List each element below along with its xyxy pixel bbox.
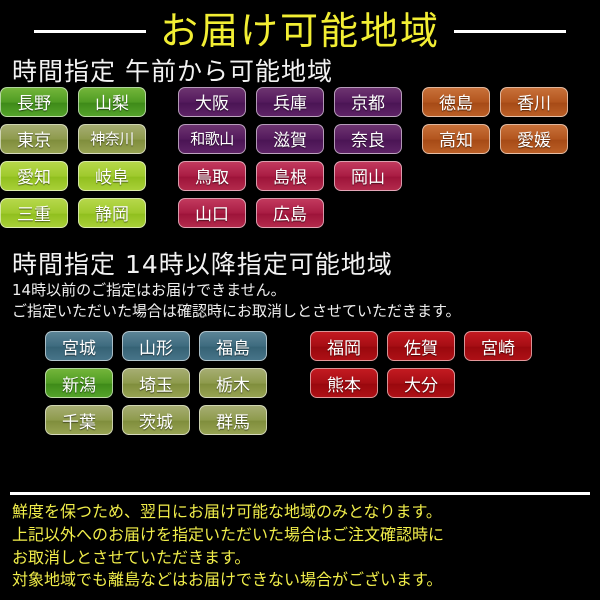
prefecture-tag-label: 埼玉	[139, 371, 173, 396]
prefecture-tag[interactable]: 三重	[0, 198, 68, 228]
prefecture-tag-label: 徳島	[439, 89, 473, 114]
prefecture-tag[interactable]: 神奈川	[78, 124, 146, 154]
prefecture-tag[interactable]: 長野	[0, 87, 68, 117]
prefecture-tag-row: 新潟埼玉栃木	[45, 368, 310, 398]
prefecture-tag[interactable]: 新潟	[45, 368, 113, 398]
footer-line: 上記以外へのお届けを指定いただいた場合はご注文確認時に	[12, 524, 600, 547]
prefecture-tag-label: 広島	[273, 200, 307, 225]
prefecture-tag[interactable]: 京都	[334, 87, 402, 117]
prefecture-tag-label: 熊本	[327, 371, 361, 396]
title-rule-right	[454, 30, 566, 33]
prefecture-tag-label: 群馬	[216, 408, 250, 433]
prefecture-tag[interactable]: 愛媛	[500, 124, 568, 154]
prefecture-tag[interactable]: 千葉	[45, 405, 113, 435]
afternoon-grid-east: 宮城山形福島新潟埼玉栃木千葉茨城群馬	[0, 331, 310, 442]
prefecture-tag-label: 神奈川	[90, 128, 134, 149]
prefecture-tag[interactable]: 大阪	[178, 87, 246, 117]
prefecture-tag-label: 滋賀	[273, 126, 307, 151]
prefecture-tag[interactable]: 埼玉	[122, 368, 190, 398]
prefecture-tag-label: 岐阜	[95, 163, 129, 188]
prefecture-tag[interactable]: 島根	[256, 161, 324, 191]
afternoon-note-1: 14時以前のご指定はお届けできません。	[0, 280, 600, 302]
prefecture-tag[interactable]: 山口	[178, 198, 246, 228]
section-morning: 時間指定 午前から可能地域 長野山梨大阪兵庫京都徳島香川東京神奈川和歌山滋賀奈良…	[0, 58, 600, 243]
prefecture-tag-label: 大阪	[195, 89, 229, 114]
prefecture-tag-label: 兵庫	[273, 89, 307, 114]
prefecture-tag-label: 佐賀	[404, 334, 438, 359]
title-row: お届け可能地域	[0, 0, 600, 58]
prefecture-tag[interactable]: 広島	[256, 198, 324, 228]
prefecture-tag-label: 千葉	[62, 408, 96, 433]
section-morning-heading: 時間指定 午前から可能地域	[0, 58, 600, 87]
prefecture-tag-row: 福岡佐賀宮崎	[310, 331, 555, 361]
prefecture-tag-label: 奈良	[351, 126, 385, 151]
prefecture-tag-label: 岡山	[351, 163, 385, 188]
prefecture-tag-label: 山形	[139, 334, 173, 359]
prefecture-tag-label: 茨城	[139, 408, 173, 433]
prefecture-tag-label: 高知	[439, 126, 473, 151]
prefecture-tag-row: 千葉茨城群馬	[45, 405, 310, 435]
prefecture-tag[interactable]: 徳島	[422, 87, 490, 117]
prefecture-tag[interactable]: 滋賀	[256, 124, 324, 154]
prefecture-tag[interactable]: 佐賀	[387, 331, 455, 361]
prefecture-tag[interactable]: 和歌山	[178, 124, 246, 154]
prefecture-tag[interactable]: 福岡	[310, 331, 378, 361]
prefecture-tag-label: 東京	[17, 126, 51, 151]
prefecture-tag[interactable]: 香川	[500, 87, 568, 117]
prefecture-tag-label: 栃木	[216, 371, 250, 396]
title-rule-left	[34, 30, 146, 33]
prefecture-tag-label: 大分	[404, 371, 438, 396]
prefecture-tag[interactable]: 熊本	[310, 368, 378, 398]
prefecture-tag-label: 長野	[17, 89, 51, 114]
delivery-area-panel: お届け可能地域 時間指定 午前から可能地域 長野山梨大阪兵庫京都徳島香川東京神奈…	[0, 0, 600, 600]
prefecture-tag-label: 鳥取	[195, 163, 229, 188]
section-afternoon-heading: 時間指定 14時以降指定可能地域	[0, 251, 600, 280]
prefecture-tag-row: 熊本大分	[310, 368, 555, 398]
prefecture-tag[interactable]: 東京	[0, 124, 68, 154]
prefecture-tag-label: 静岡	[95, 200, 129, 225]
prefecture-tag[interactable]: 茨城	[122, 405, 190, 435]
morning-prefecture-grid: 長野山梨大阪兵庫京都徳島香川東京神奈川和歌山滋賀奈良高知愛媛愛知岐阜鳥取島根岡山…	[0, 87, 600, 243]
prefecture-tag-label: 香川	[517, 89, 551, 114]
prefecture-tag-label: 福島	[216, 334, 250, 359]
footer-line: 鮮度を保つため、翌日にお届け可能な地域のみとなります。	[12, 501, 600, 524]
prefecture-tag-label: 山口	[195, 200, 229, 225]
afternoon-note-2: ご指定いただいた場合は確認時にお取消しとさせていただきます。	[0, 301, 600, 323]
prefecture-tag[interactable]: 栃木	[199, 368, 267, 398]
prefecture-tag[interactable]: 兵庫	[256, 87, 324, 117]
prefecture-tag[interactable]: 山梨	[78, 87, 146, 117]
prefecture-tag-label: 愛媛	[517, 126, 551, 151]
page-title: お届け可能地域	[160, 12, 440, 50]
afternoon-grid-wrap: 宮城山形福島新潟埼玉栃木千葉茨城群馬 福岡佐賀宮崎熊本大分	[0, 323, 600, 442]
prefecture-tag[interactable]: 群馬	[199, 405, 267, 435]
prefecture-tag-label: 宮城	[62, 334, 96, 359]
footer-text-block: 鮮度を保つため、翌日にお届け可能な地域のみとなります。上記以外へのお届けを指定い…	[0, 495, 600, 592]
prefecture-tag-label: 宮崎	[481, 334, 515, 359]
footer-line: お取消しとさせていただきます。	[12, 547, 600, 570]
prefecture-tag[interactable]: 宮城	[45, 331, 113, 361]
prefecture-tag-label: 山梨	[95, 89, 129, 114]
prefecture-tag[interactable]: 高知	[422, 124, 490, 154]
prefecture-tag-label: 三重	[17, 200, 51, 225]
afternoon-grid-kyushu: 福岡佐賀宮崎熊本大分	[310, 331, 555, 442]
prefecture-tag-row: 宮城山形福島	[45, 331, 310, 361]
prefecture-tag[interactable]: 愛知	[0, 161, 68, 191]
prefecture-tag[interactable]: 宮崎	[464, 331, 532, 361]
prefecture-tag[interactable]: 静岡	[78, 198, 146, 228]
section-afternoon: 時間指定 14時以降指定可能地域 14時以前のご指定はお届けできません。 ご指定…	[0, 243, 600, 442]
prefecture-tag[interactable]: 奈良	[334, 124, 402, 154]
prefecture-tag-label: 和歌山	[190, 128, 234, 149]
prefecture-tag[interactable]: 岐阜	[78, 161, 146, 191]
prefecture-tag[interactable]: 福島	[199, 331, 267, 361]
prefecture-tag[interactable]: 大分	[387, 368, 455, 398]
footer: 鮮度を保つため、翌日にお届け可能な地域のみとなります。上記以外へのお届けを指定い…	[0, 492, 600, 592]
prefecture-tag-label: 新潟	[62, 371, 96, 396]
footer-line: 対象地域でも離島などはお届けできない場合がございます。	[12, 569, 600, 592]
prefecture-tag[interactable]: 鳥取	[178, 161, 246, 191]
prefecture-tag[interactable]: 山形	[122, 331, 190, 361]
prefecture-tag-label: 愛知	[17, 163, 51, 188]
prefecture-tag[interactable]: 岡山	[334, 161, 402, 191]
prefecture-tag-label: 島根	[273, 163, 307, 188]
prefecture-tag-label: 福岡	[327, 334, 361, 359]
prefecture-tag-label: 京都	[351, 89, 385, 114]
